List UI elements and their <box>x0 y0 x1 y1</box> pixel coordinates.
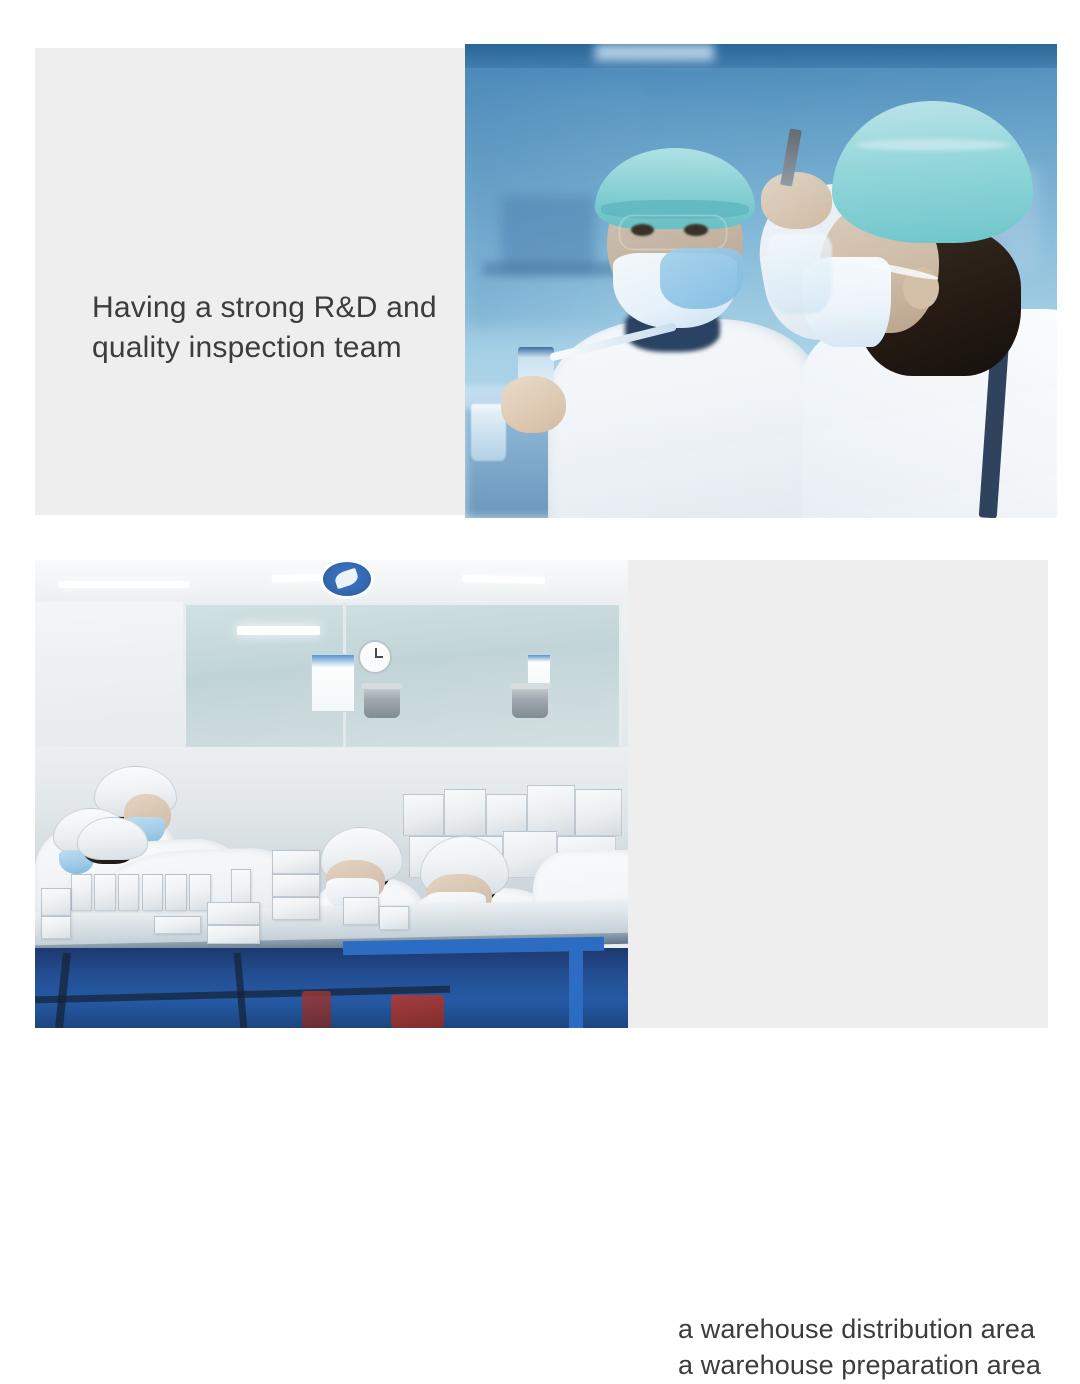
photo-grain-overlay <box>35 560 628 1028</box>
page-canvas: Having a strong R&D and quality inspecti… <box>0 0 1080 1080</box>
rd-quality-photo <box>465 44 1057 518</box>
warehouse-photo <box>35 560 628 1028</box>
photo-blue-tint <box>465 44 1057 518</box>
warehouse-caption: a warehouse distribution area a warehous… <box>678 1312 1078 1384</box>
rd-quality-caption: Having a strong R&D and quality inspecti… <box>92 288 482 367</box>
